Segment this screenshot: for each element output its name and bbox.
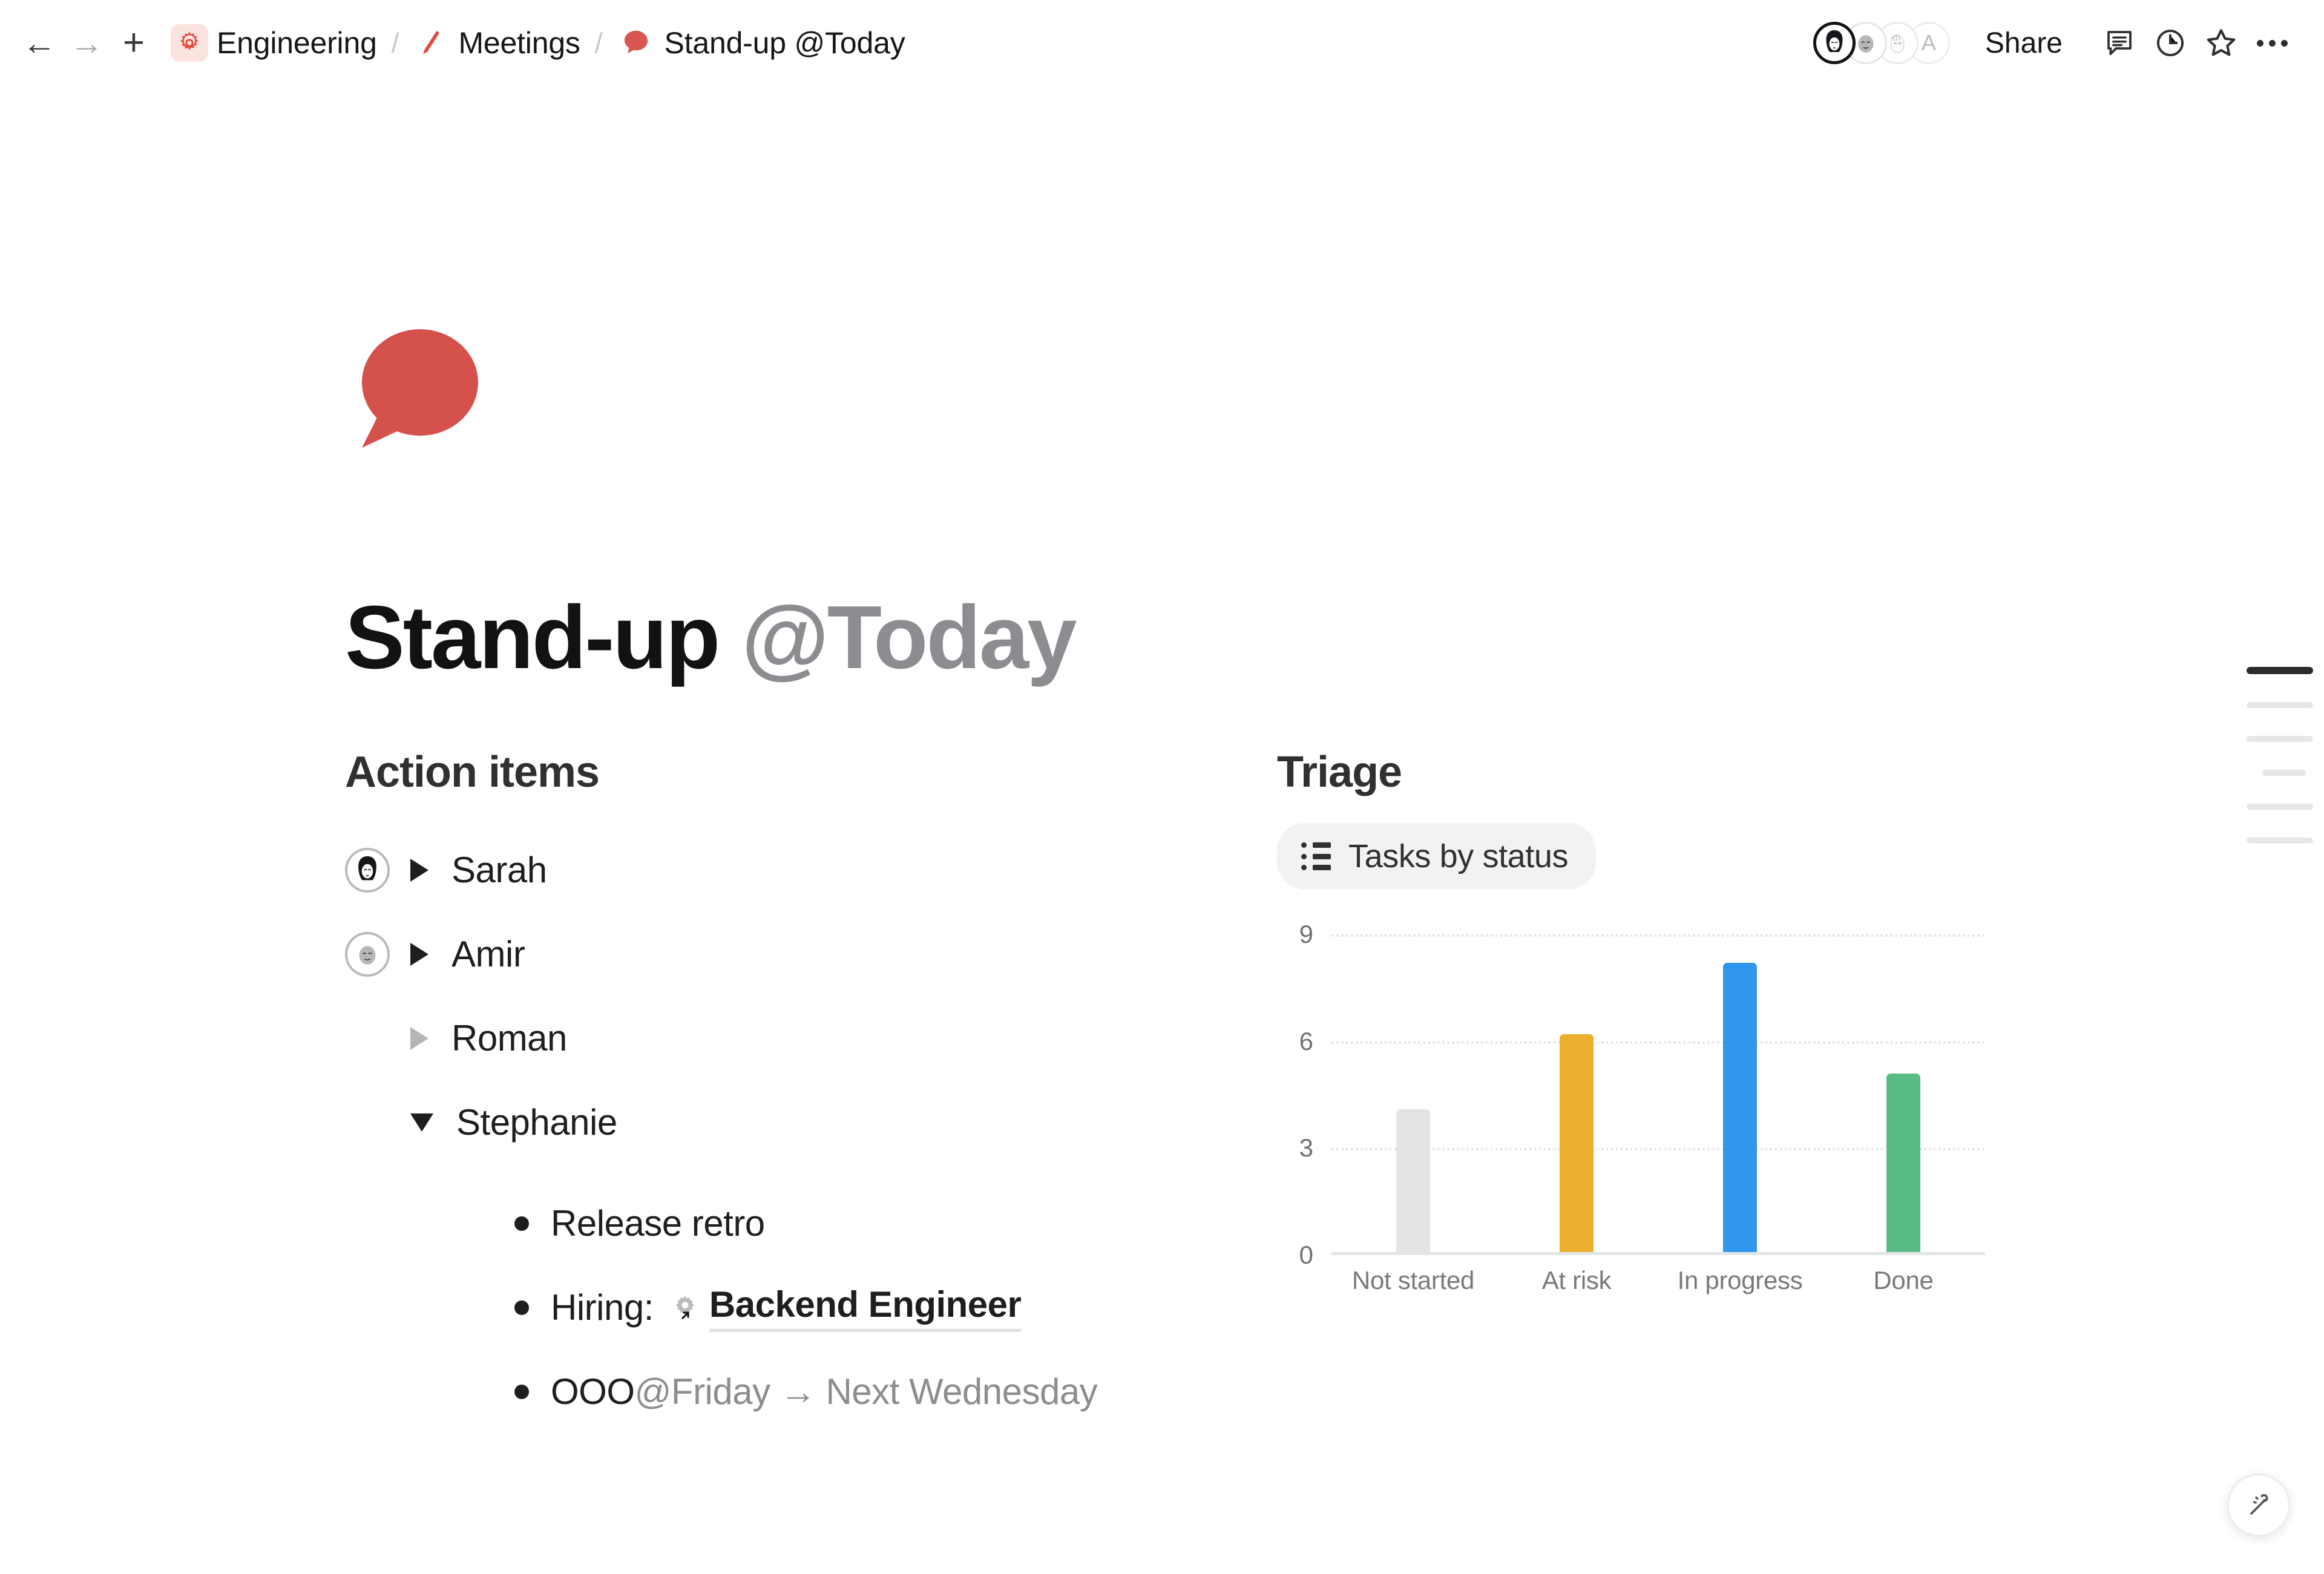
chart-bar[interactable] bbox=[1886, 1074, 1920, 1255]
triage-heading: Triage bbox=[1277, 750, 1979, 794]
outline-marker[interactable] bbox=[2247, 838, 2313, 844]
magic-wand-icon bbox=[2243, 1489, 2274, 1521]
arrow-right-icon: → bbox=[70, 26, 103, 60]
top-bar: ← → + Engineering / bbox=[0, 0, 2324, 86]
chart-baseline bbox=[1331, 1252, 1985, 1255]
stephanie-subitems: Release retro Hiring: bbox=[345, 1181, 1253, 1434]
subitem-ooo-dates: @Friday → Next Wednesday bbox=[635, 1371, 1098, 1412]
action-items-heading: Action items bbox=[345, 750, 1253, 794]
subitem-release-retro: Release retro bbox=[551, 1202, 765, 1244]
sarah-avatar bbox=[345, 848, 390, 893]
content-columns: Action items bbox=[345, 750, 1979, 1434]
share-button[interactable]: Share bbox=[1978, 21, 2070, 66]
back-button[interactable]: ← bbox=[16, 19, 63, 67]
action-item-row-sarah[interactable]: Sarah bbox=[345, 828, 1253, 912]
page-cover-icon[interactable] bbox=[345, 322, 490, 461]
bulleted-list-icon bbox=[1301, 842, 1331, 870]
subitem-ooo-label: OOO bbox=[551, 1371, 635, 1412]
top-bar-right: A Share bbox=[1813, 18, 2324, 68]
subitem-ooo: OOO @Friday → Next Wednesday bbox=[551, 1371, 1097, 1412]
collaborator-avatars[interactable]: A bbox=[1813, 22, 1950, 64]
gear-icon bbox=[171, 24, 208, 62]
outline-marker[interactable] bbox=[2247, 736, 2313, 742]
tasks-by-status-label: Tasks by status bbox=[1348, 838, 1568, 875]
breadcrumb-label-engineering: Engineering bbox=[217, 25, 377, 61]
comment-button[interactable] bbox=[2094, 18, 2145, 68]
action-item-row-amir[interactable]: Amir bbox=[345, 912, 1253, 996]
list-item[interactable]: OOO @Friday → Next Wednesday bbox=[345, 1349, 1253, 1434]
page-body: Stand-up @Today Action items bbox=[0, 86, 2324, 1574]
subitem-hiring-prefix: Hiring: bbox=[551, 1287, 654, 1328]
arrow-left-icon: ← bbox=[22, 26, 56, 60]
chart-bar[interactable] bbox=[1723, 963, 1757, 1255]
triage-column: Triage Tasks by status 0369 Not bbox=[1277, 750, 1979, 1434]
breadcrumb-label-meetings: Meetings bbox=[458, 25, 580, 61]
breadcrumb-separator-2: / bbox=[595, 27, 603, 59]
page-link-label[interactable]: Backend Engineer bbox=[709, 1284, 1022, 1332]
pencil-icon bbox=[413, 25, 450, 61]
list-item[interactable]: Release retro bbox=[345, 1181, 1253, 1265]
breadcrumb-item-engineering[interactable]: Engineering bbox=[171, 24, 377, 62]
breadcrumb: Engineering / Meetings / bbox=[171, 24, 905, 62]
speech-bubble-icon bbox=[345, 322, 490, 461]
toggle-triangle-sarah[interactable] bbox=[410, 859, 428, 882]
star-icon bbox=[2204, 25, 2239, 61]
outline-marker[interactable] bbox=[2247, 667, 2313, 674]
breadcrumb-separator-1: / bbox=[392, 27, 399, 59]
chart-x-tick: Not started bbox=[1331, 1266, 1495, 1295]
page-link-backend-engineer[interactable]: Backend Engineer bbox=[669, 1284, 1022, 1332]
gear-link-icon bbox=[669, 1292, 701, 1323]
chart-bar-slot[interactable] bbox=[1331, 934, 1495, 1255]
action-item-row-stephanie[interactable]: Stephanie bbox=[345, 1080, 1253, 1164]
forward-button[interactable]: → bbox=[63, 19, 110, 67]
chart-bar[interactable] bbox=[1560, 1034, 1594, 1255]
outline-marker[interactable] bbox=[2247, 804, 2313, 810]
avatar-slot bbox=[345, 848, 410, 893]
document-outline-minimap[interactable] bbox=[2247, 667, 2313, 871]
chart-x-axis: Not startedAt riskIn progressDone bbox=[1331, 1266, 1985, 1295]
chart-bar-slot[interactable] bbox=[1822, 934, 1985, 1255]
breadcrumb-item-standup[interactable]: Stand-up @Today bbox=[617, 24, 905, 62]
bullet-icon bbox=[514, 1216, 529, 1231]
avatar-initial: A bbox=[1922, 30, 1936, 56]
chart-bar-slot[interactable] bbox=[1658, 934, 1822, 1255]
tasks-by-status-chip[interactable]: Tasks by status bbox=[1277, 823, 1596, 890]
plus-icon: + bbox=[123, 24, 145, 62]
outline-marker[interactable] bbox=[2247, 702, 2313, 708]
history-button[interactable] bbox=[2145, 18, 2196, 68]
toggle-triangle-amir[interactable] bbox=[410, 943, 428, 966]
chart-y-axis: 0369 bbox=[1277, 934, 1313, 1255]
speech-bubble-icon bbox=[617, 24, 655, 62]
chart-bar[interactable] bbox=[1396, 1109, 1430, 1255]
page-title-main: Stand-up bbox=[345, 588, 741, 687]
action-item-name-stephanie: Stephanie bbox=[456, 1101, 617, 1143]
chart-x-tick: At risk bbox=[1495, 1266, 1658, 1295]
chart-y-tick: 9 bbox=[1299, 920, 1313, 949]
chart-x-tick: In progress bbox=[1658, 1266, 1822, 1295]
bullet-icon bbox=[514, 1385, 529, 1399]
action-items-column: Action items bbox=[345, 750, 1253, 1434]
page-title-mention: @Today bbox=[741, 588, 1075, 687]
more-menu-button[interactable] bbox=[2247, 18, 2297, 68]
breadcrumb-item-meetings[interactable]: Meetings bbox=[413, 25, 580, 61]
chart-bars bbox=[1331, 934, 1985, 1255]
outline-marker[interactable] bbox=[2262, 770, 2306, 776]
action-items-list: Sarah bbox=[345, 828, 1253, 1434]
chart-x-tick: Done bbox=[1822, 1266, 1985, 1295]
amir-avatar bbox=[345, 932, 390, 977]
favorite-button[interactable] bbox=[2196, 18, 2247, 68]
page-title[interactable]: Stand-up @Today bbox=[345, 593, 1979, 683]
chart-bar-slot[interactable] bbox=[1495, 934, 1658, 1255]
new-page-button[interactable]: + bbox=[110, 19, 157, 67]
chart-y-tick: 6 bbox=[1299, 1027, 1313, 1056]
action-item-name-amir: Amir bbox=[451, 933, 525, 975]
page-content: Stand-up @Today Action items bbox=[345, 86, 1979, 1434]
action-item-row-roman[interactable]: Roman bbox=[345, 996, 1253, 1080]
ellipsis-icon bbox=[2257, 40, 2288, 47]
avatar-sarah[interactable] bbox=[1813, 22, 1856, 64]
assistant-button[interactable] bbox=[2227, 1474, 2290, 1536]
bullet-icon bbox=[514, 1300, 529, 1315]
clock-icon bbox=[2153, 26, 2187, 60]
toggle-triangle-roman[interactable] bbox=[410, 1027, 428, 1050]
list-item[interactable]: Hiring: Backend bbox=[345, 1265, 1253, 1349]
action-item-name-roman: Roman bbox=[451, 1017, 567, 1059]
toggle-triangle-stephanie[interactable] bbox=[410, 1113, 433, 1132]
chart-plot-area bbox=[1331, 934, 1985, 1255]
avatar-slot bbox=[345, 932, 410, 977]
comment-icon bbox=[2103, 27, 2136, 59]
breadcrumb-label-standup: Stand-up @Today bbox=[665, 25, 905, 61]
chart-y-tick: 3 bbox=[1299, 1133, 1313, 1162]
action-item-name-sarah: Sarah bbox=[451, 849, 547, 891]
tasks-by-status-chart[interactable]: 0369 Not startedAt riskIn progressDone bbox=[1277, 934, 1985, 1346]
chart-y-tick: 0 bbox=[1299, 1241, 1313, 1270]
top-bar-left: ← → + Engineering / bbox=[0, 19, 905, 67]
subitem-hiring: Hiring: Backend bbox=[551, 1284, 1021, 1332]
